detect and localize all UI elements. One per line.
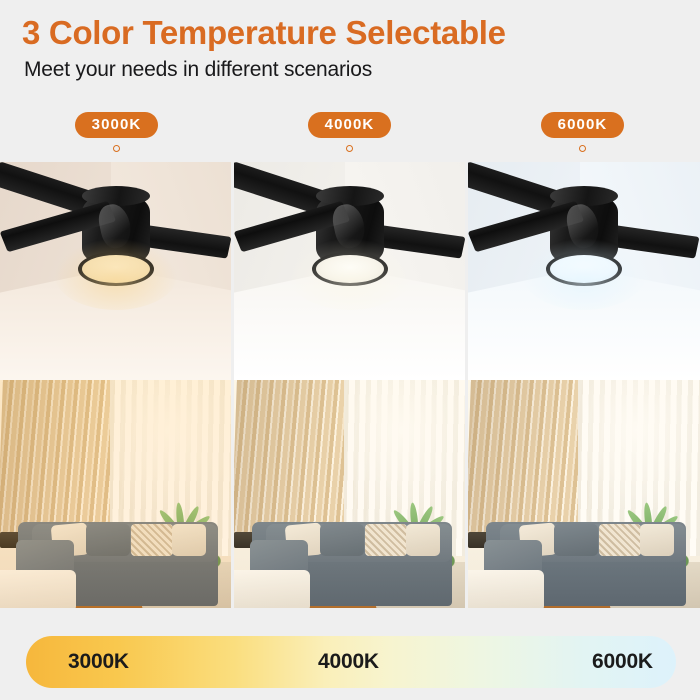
throw-pillow-patterned xyxy=(365,524,407,556)
badge-group-4000k: 4000K xyxy=(233,112,466,152)
living-room-scene-3000k xyxy=(0,380,231,608)
throw-pillow xyxy=(320,524,364,556)
living-room-scene-4000k xyxy=(234,380,465,608)
throw-pillow xyxy=(640,524,674,556)
ceiling-scene-4000k xyxy=(234,162,465,380)
panel-photo-4000k xyxy=(234,162,465,608)
scale-label-4000k: 4000K xyxy=(318,650,379,674)
temperature-badge-row: 3000K 4000K 6000K xyxy=(0,112,700,160)
badge-group-3000k: 3000K xyxy=(0,112,233,152)
comparison-panels xyxy=(0,162,700,608)
accent-chair xyxy=(234,570,310,608)
temperature-badge-3000k[interactable]: 3000K xyxy=(75,112,159,138)
temperature-badge-4000k[interactable]: 4000K xyxy=(308,112,392,138)
color-temperature-scale: 3000K 4000K 6000K xyxy=(0,636,700,688)
fan-motor-top xyxy=(82,186,150,206)
selector-dot-icon-6000k xyxy=(579,145,586,152)
temperature-badge-6000k[interactable]: 6000K xyxy=(541,112,625,138)
throw-pillow xyxy=(406,524,440,556)
throw-pillow xyxy=(86,524,130,556)
panel-photo-3000k xyxy=(0,162,231,608)
scale-label-6000k: 6000K xyxy=(592,650,653,674)
led-light-disc-6000k xyxy=(550,255,618,283)
scale-label-3000k: 3000K xyxy=(68,650,129,674)
living-room-scene-6000k xyxy=(468,380,700,608)
badge-group-6000k: 6000K xyxy=(466,112,699,152)
page-title: 3 Color Temperature Selectable xyxy=(22,14,506,52)
selector-dot-icon-4000k xyxy=(346,145,353,152)
throw-pillow-patterned xyxy=(599,524,641,556)
panel-photo-6000k xyxy=(468,162,700,608)
ceiling-scene-3000k xyxy=(0,162,231,380)
accent-chair xyxy=(468,570,544,608)
led-light-disc-4000k xyxy=(316,255,384,283)
page-subtitle: Meet your needs in different scenarios xyxy=(24,58,372,82)
led-light-disc-3000k xyxy=(82,255,150,283)
fan-motor-top xyxy=(550,186,618,206)
throw-pillow xyxy=(554,524,598,556)
header-banner: 3 Color Temperature Selectable Meet your… xyxy=(0,0,700,100)
selector-dot-icon-3000k xyxy=(113,145,120,152)
accent-chair xyxy=(0,570,76,608)
throw-pillow xyxy=(172,524,206,556)
ceiling-scene-6000k xyxy=(468,162,700,380)
fan-motor-top xyxy=(316,186,384,206)
throw-pillow-patterned xyxy=(131,524,173,556)
